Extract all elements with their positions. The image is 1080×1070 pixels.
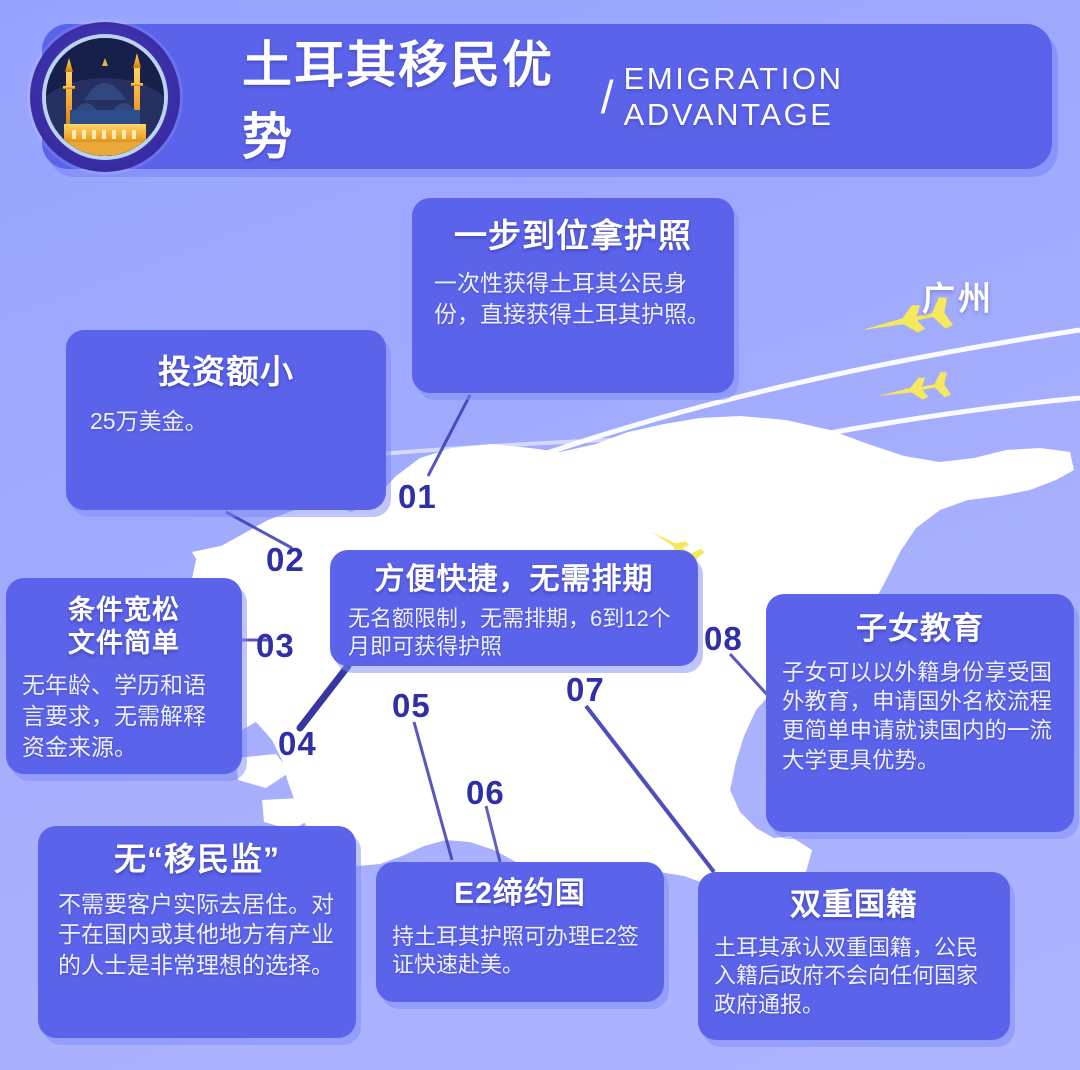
header-title-group: 土耳其移民优势 / EMIGRATION ADVANTAGE — [242, 24, 1052, 169]
map-marker-07[interactable]: 07 — [566, 671, 605, 709]
plane-icon — [876, 371, 951, 409]
card-title: E2缔约国 — [392, 876, 648, 913]
mosque-icon — [46, 38, 164, 156]
card-title: 方便快捷，无需排期 — [348, 562, 680, 599]
card-fast-no-queue[interactable]: 方便快捷，无需排期 无名额限制，无需排期，6到12个月即可获得护照 — [330, 550, 698, 666]
card-one-step-passport[interactable]: 一步到位拿护照 一次性获得土耳其公民身份，直接获得土耳其护照。 — [412, 198, 734, 393]
page-title-cn: 土耳其移民优势 — [242, 25, 597, 169]
card-title: 一步到位拿护照 — [434, 216, 712, 256]
card-body: 土耳其承认双重国籍，公民入籍后政府不会向任何国家政府通报。 — [714, 934, 994, 1020]
map-marker-05[interactable]: 05 — [392, 687, 431, 725]
card-e2-treaty-country[interactable]: E2缔约国 持土耳其护照可办理E2签证快速赴美。 — [376, 862, 664, 1002]
card-title-line2: 文件简单 — [68, 628, 180, 658]
card-body: 25万美金。 — [90, 406, 362, 437]
map-marker-08[interactable]: 08 — [704, 620, 743, 658]
mosque-logo — [30, 22, 180, 172]
card-title: 条件宽松 文件简单 — [22, 594, 226, 660]
card-body: 不需要客户实际去居住。对于在国内或其他地方有产业的人士是非常理想的选择。 — [58, 889, 336, 980]
card-title-line1: 条件宽松 — [68, 595, 180, 625]
card-children-education[interactable]: 子女教育 子女可以以外籍身份享受国外教育，申请国外名校流程更简单申请就读国内的一… — [766, 594, 1074, 832]
city-label-guangzhou: 广州 — [922, 272, 994, 320]
card-title: 无“移民监” — [58, 840, 336, 879]
map-marker-01[interactable]: 01 — [398, 478, 437, 516]
card-body: 一次性获得土耳其公民身份，直接获得土耳其护照。 — [434, 268, 712, 330]
card-title: 子女教育 — [782, 610, 1058, 648]
card-body: 持土耳其护照可办理E2签证快速赴美。 — [392, 923, 648, 980]
map-marker-04[interactable]: 04 — [278, 725, 317, 763]
card-dual-citizenship[interactable]: 双重国籍 土耳其承认双重国籍，公民入籍后政府不会向任何国家政府通报。 — [698, 872, 1010, 1040]
card-body: 无年龄、学历和语言要求，无需解释资金来源。 — [22, 670, 226, 763]
map-marker-02[interactable]: 02 — [266, 541, 305, 579]
mosque-logo-inner — [46, 38, 164, 156]
card-title: 投资额小 — [90, 352, 362, 392]
card-body: 子女可以以外籍身份享受国外教育，申请国外名校流程更简单申请就读国内的一流大学更具… — [782, 658, 1058, 775]
infographic-stage: 土耳其移民优势 / EMIGRATION ADVANTAGE — [0, 0, 1080, 1070]
card-body: 无名额限制，无需排期，6到12个月即可获得护照 — [348, 605, 680, 661]
page-title-en: EMIGRATION ADVANTAGE — [624, 61, 1052, 133]
card-no-residency-requirement[interactable]: 无“移民监” 不需要客户实际去居住。对于在国内或其他地方有产业的人士是非常理想的… — [38, 826, 356, 1038]
title-separator: / — [601, 70, 614, 124]
card-investment-amount[interactable]: 投资额小 25万美金。 — [66, 330, 386, 510]
card-relaxed-conditions[interactable]: 条件宽松 文件简单 无年龄、学历和语言要求，无需解释资金来源。 — [6, 578, 242, 774]
map-marker-06[interactable]: 06 — [466, 774, 505, 812]
map-marker-03[interactable]: 03 — [256, 627, 295, 665]
card-title: 双重国籍 — [714, 886, 994, 924]
header-bar: 土耳其移民优势 / EMIGRATION ADVANTAGE — [42, 24, 1052, 169]
